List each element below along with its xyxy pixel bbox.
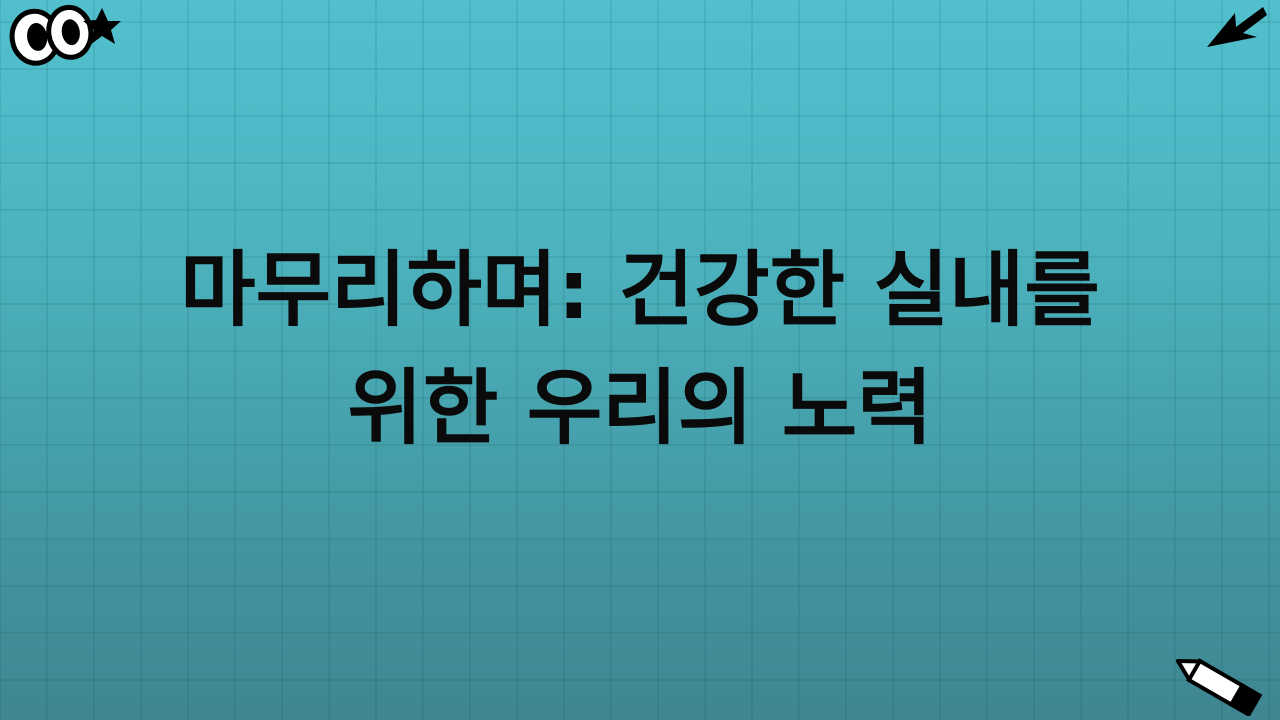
slide-canvas: 마무리하며: 건강한 실내를 위한 우리의 노력 [0,0,1280,720]
title-line-1: 마무리하며: 건강한 실내를 [40,232,1240,350]
arrow-icon [1205,5,1269,53]
slide-title: 마무리하며: 건강한 실내를 위한 우리의 노력 [0,232,1280,468]
pencil-icon [1166,650,1266,716]
star-icon [82,6,122,46]
title-line-2: 위한 우리의 노력 [40,350,1240,468]
